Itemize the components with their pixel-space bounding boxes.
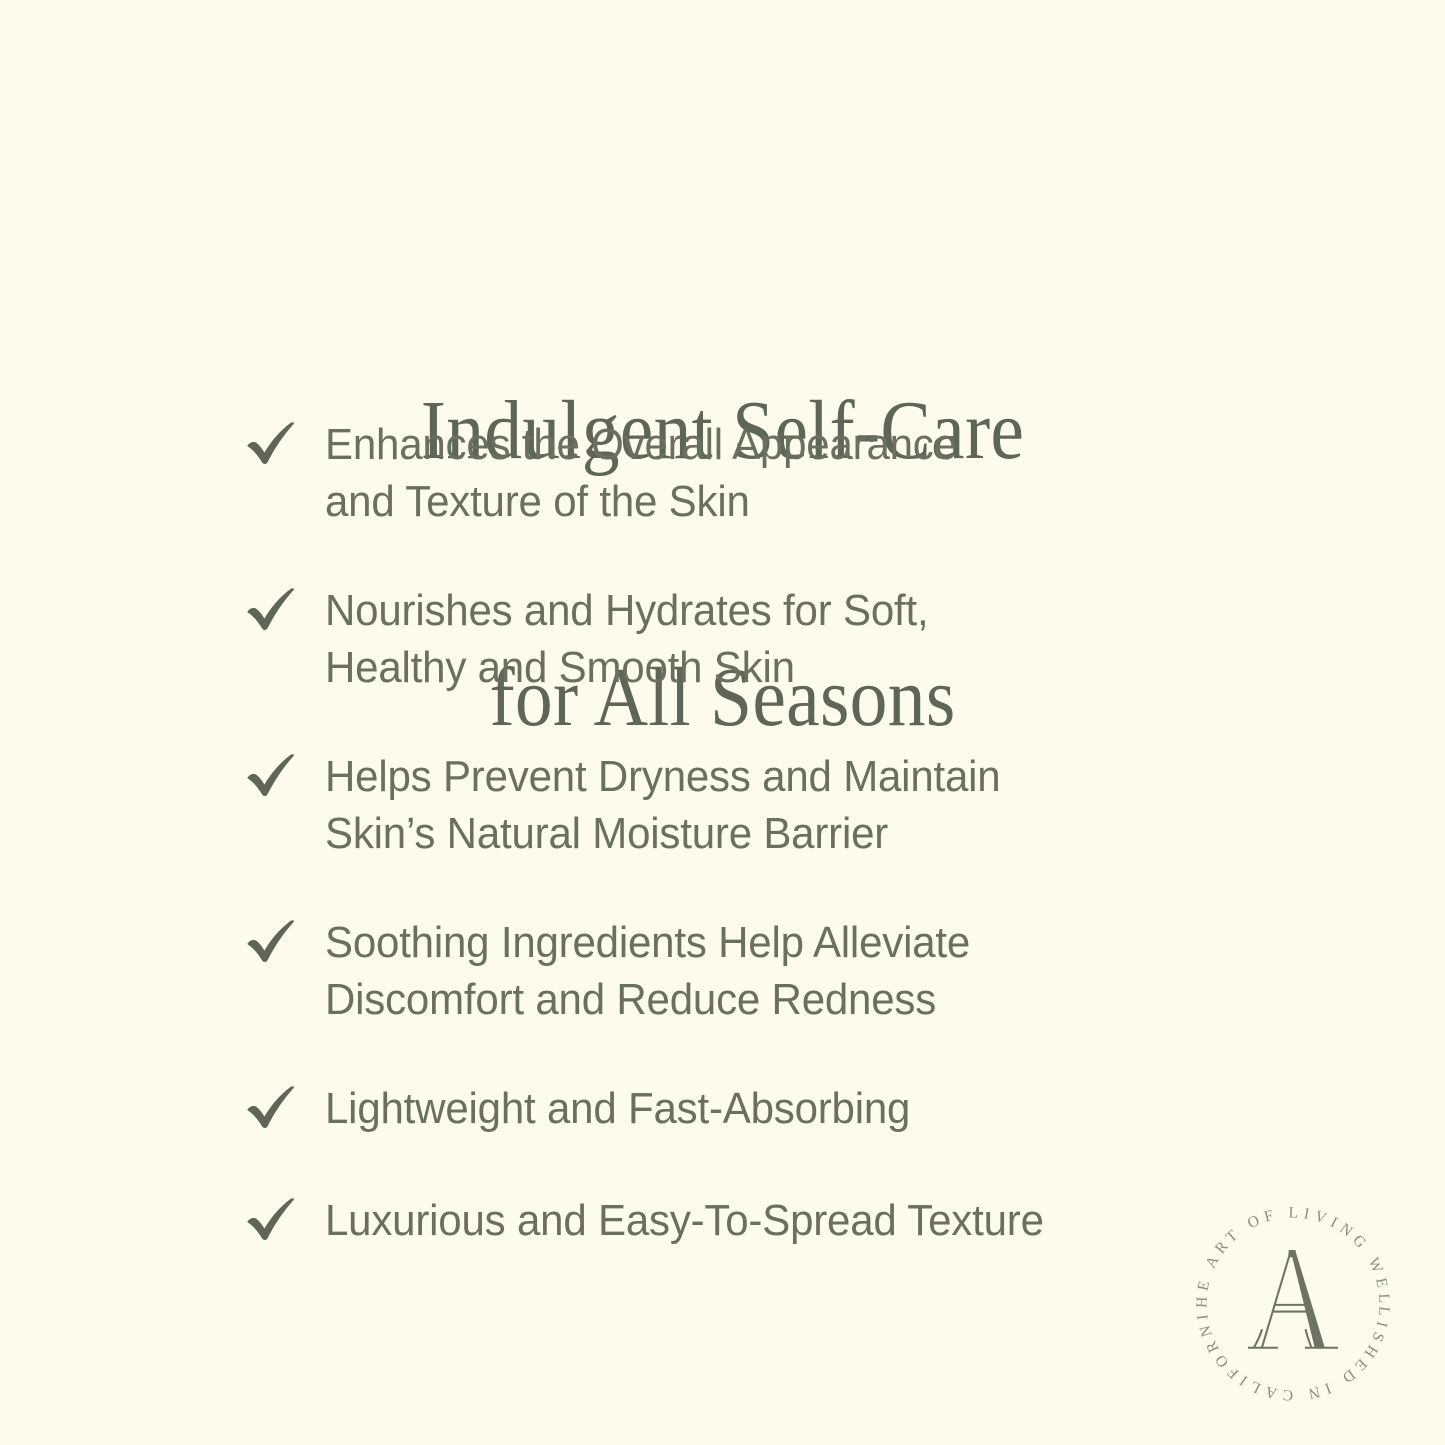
seal-ring-textpath-top: · THE ART OF LIVING WELL · xyxy=(1178,1183,1393,1309)
list-item: Soothing Ingredients Help Alleviate Disc… xyxy=(243,914,1183,1028)
check-icon xyxy=(245,1196,297,1244)
seal-ring-text-top: · THE ART OF LIVING WELL · xyxy=(1178,1183,1393,1309)
list-item: Nourishes and Hydrates for Soft, Healthy… xyxy=(243,582,1183,696)
benefit-label: Nourishes and Hydrates for Soft, Healthy… xyxy=(325,582,1144,696)
benefit-label: Enhances the Overall Appearance and Text… xyxy=(325,416,1144,530)
brand-seal-logo: · THE ART OF LIVING WELL · ESTABLISHED I… xyxy=(1185,1196,1401,1412)
check-icon xyxy=(245,420,297,468)
list-item: Enhances the Overall Appearance and Text… xyxy=(243,416,1183,530)
promo-card: Indulgent Self-Care for All Seasons Enha… xyxy=(0,0,1445,1445)
list-item: Helps Prevent Dryness and Maintain Skin’… xyxy=(243,748,1183,862)
benefit-label: Lightweight and Fast-Absorbing xyxy=(325,1080,1144,1137)
list-item: Luxurious and Easy-To-Spread Texture xyxy=(243,1192,1183,1249)
seal-monogram-a xyxy=(1248,1250,1338,1348)
benefit-label: Soothing Ingredients Help Alleviate Disc… xyxy=(325,914,1144,1028)
check-icon xyxy=(245,586,297,634)
benefit-label: Luxurious and Easy-To-Spread Texture xyxy=(325,1192,1144,1249)
list-item: Lightweight and Fast-Absorbing xyxy=(243,1080,1183,1137)
check-icon xyxy=(245,918,297,966)
check-icon xyxy=(245,1084,297,1132)
check-icon xyxy=(245,752,297,800)
benefits-list: Enhances the Overall Appearance and Text… xyxy=(243,416,1183,1249)
benefit-label: Helps Prevent Dryness and Maintain Skin’… xyxy=(325,748,1144,862)
